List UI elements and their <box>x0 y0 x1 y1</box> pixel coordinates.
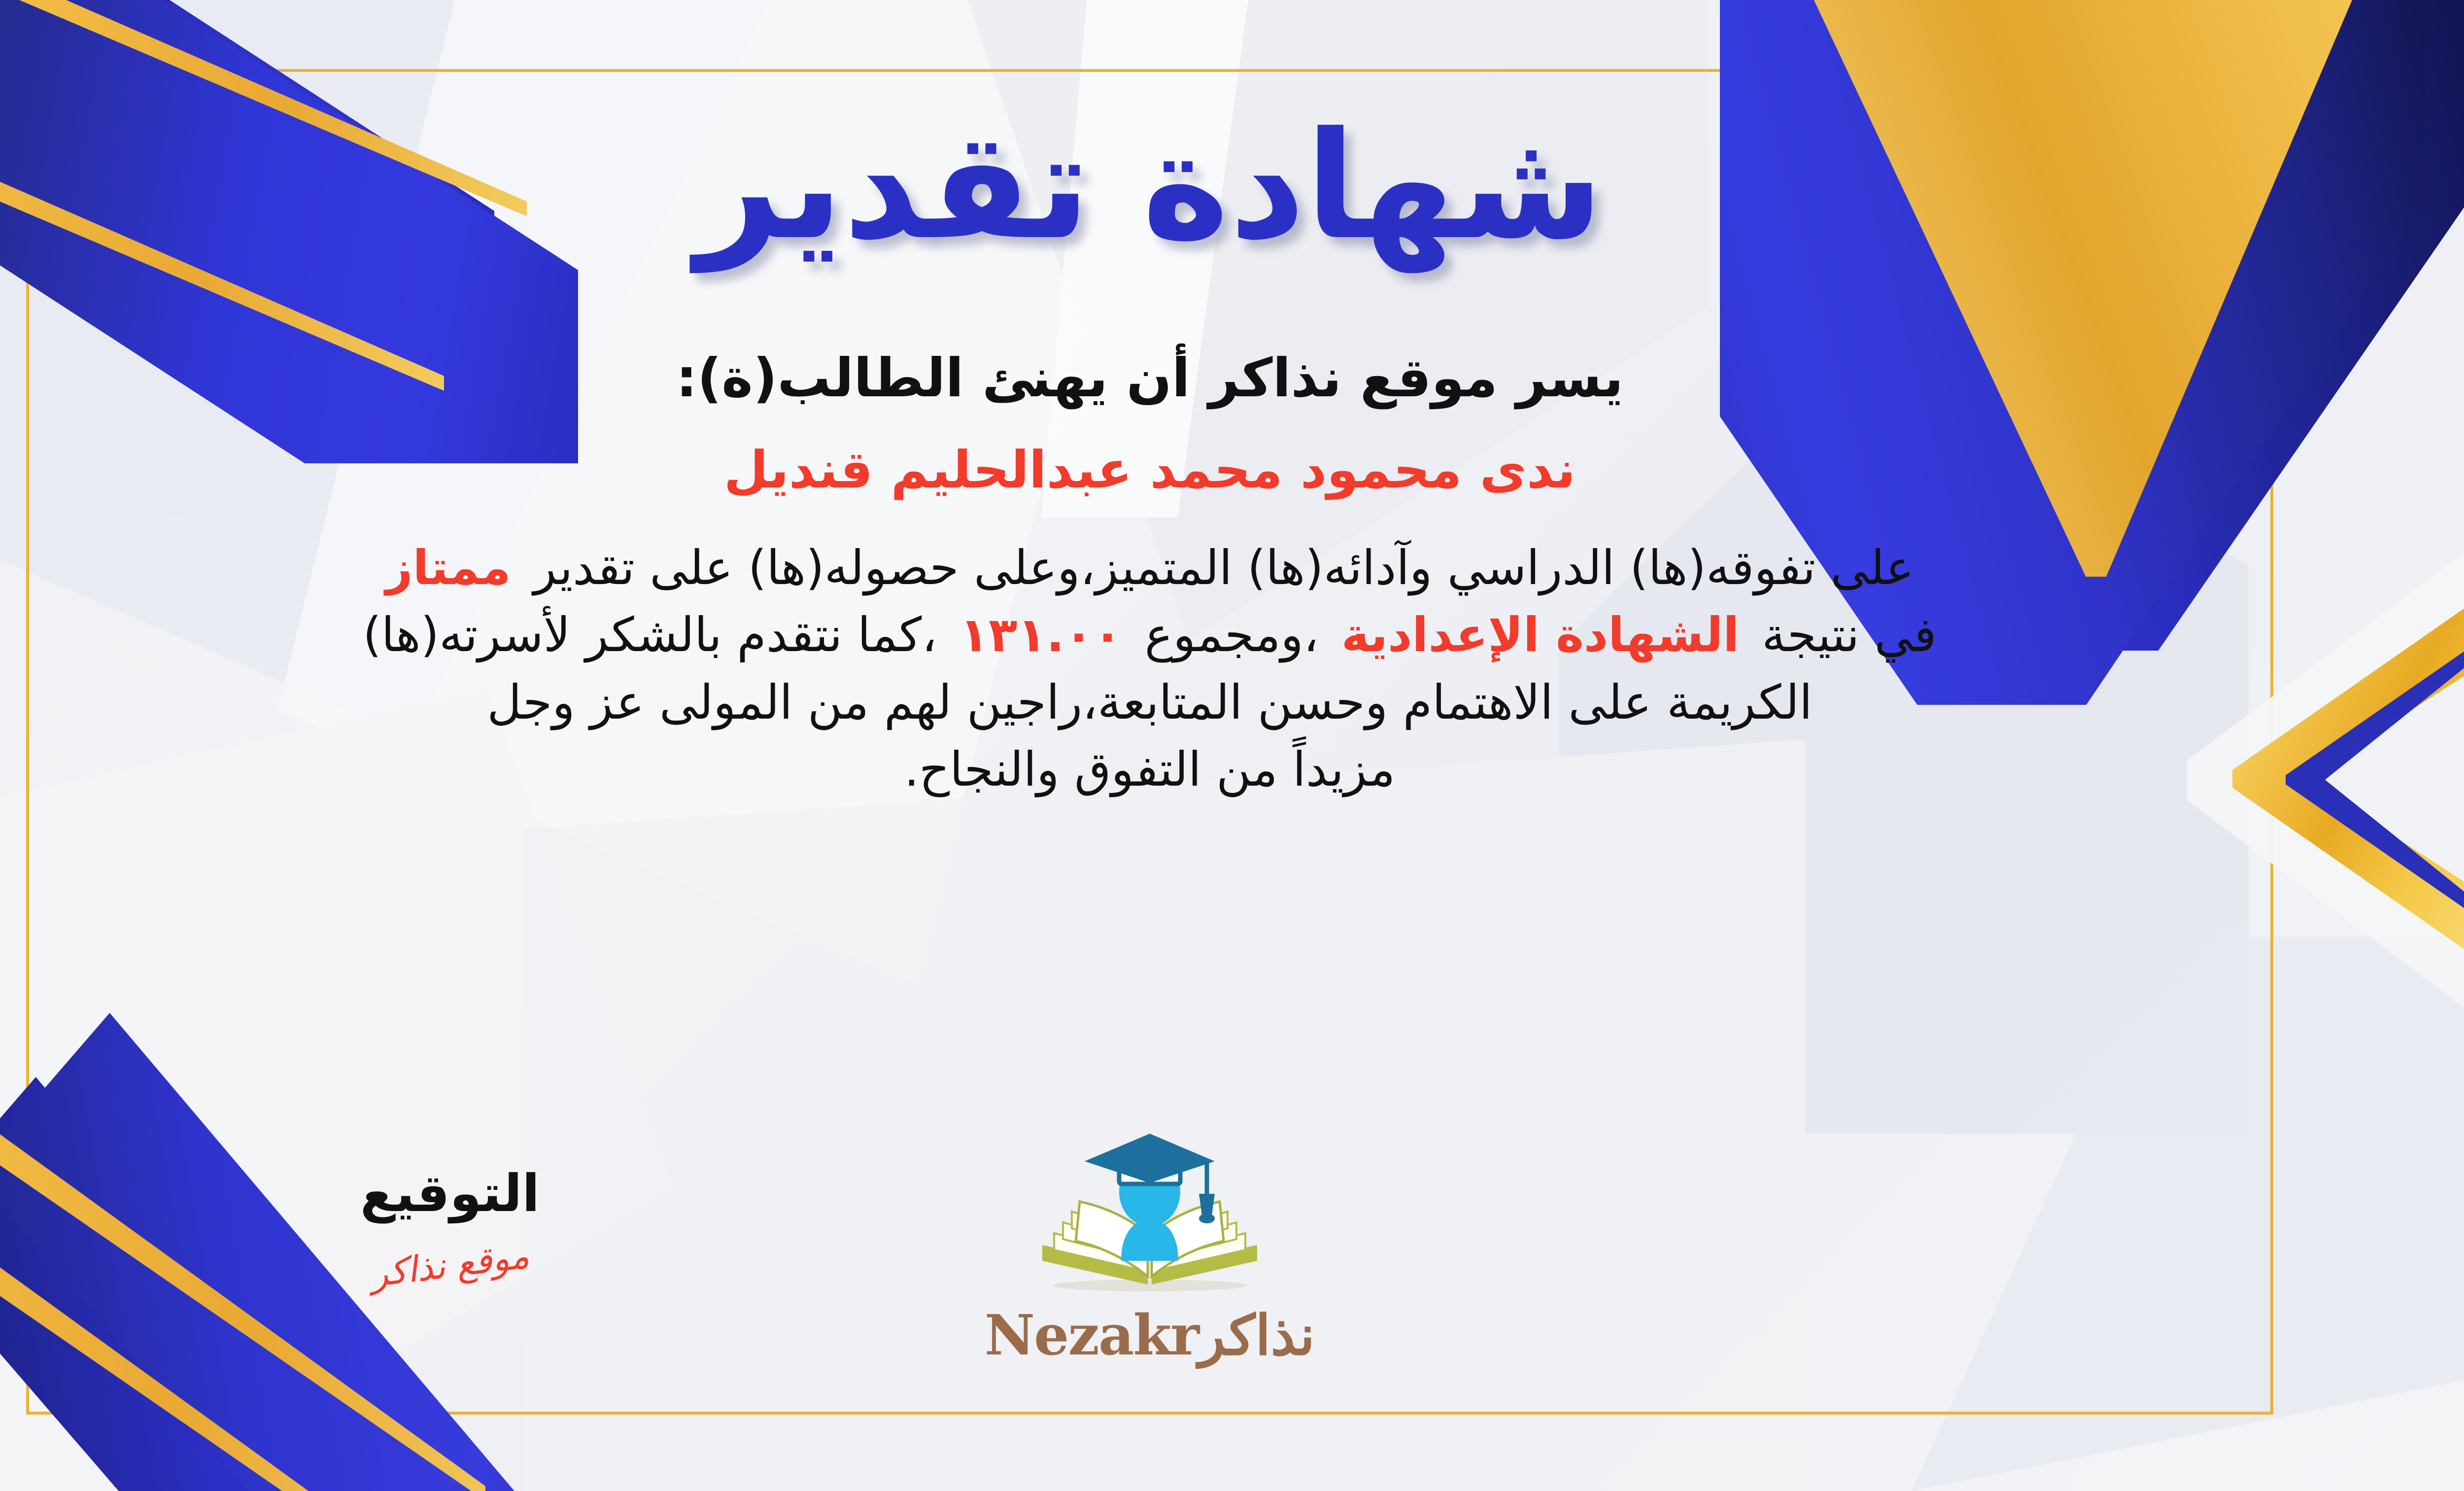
citation-line-1-text: على تفوقه(ها) الدراسي وآدائه(ها) المتميز… <box>534 540 1914 595</box>
grade-value: ممتاز <box>385 540 511 595</box>
brand-latin: Nezakr <box>985 1303 1198 1368</box>
greeting-text: يسر موقع نذاكر أن يهنئ الطالب(ة): <box>41 347 2259 409</box>
citation-line-3: الكريمة على الاهتمام وحسن المتابعة،راجين… <box>487 675 1812 730</box>
citation-line-2-suffix: ،كما نتقدم بالشكر لأسرته(ها) <box>363 607 937 662</box>
certificate-name: الشهادة الإعدادية <box>1341 607 1739 662</box>
brand-arabic: نذاكر <box>1198 1303 1315 1368</box>
signature-mark: موقع نذاكر <box>368 1235 531 1295</box>
certificate-content: شهادة تقدير يسر موقع نذاكر أن يهنئ الطال… <box>41 79 2259 1410</box>
certificate-footer: التوقيع موقع نذاكر <box>41 1084 2259 1400</box>
student-name: ندى محمود محمد عبدالحليم قنديل <box>41 440 2259 500</box>
page-title: شهادة تقدير <box>41 108 2259 264</box>
signature-block: التوقيع موقع نذاكر <box>263 1163 637 1285</box>
brand-wordmark: Nezakrنذاكر <box>948 1303 1352 1368</box>
signature-label: التوقيع <box>263 1163 637 1223</box>
certificate-canvas: شهادة تقدير يسر موقع نذاكر أن يهنئ الطال… <box>0 0 2464 1491</box>
citation-line-2-prefix: في نتيجة <box>1762 607 1937 662</box>
citation-line-4: مزيداً من التفوق والنجاح. <box>904 742 1396 797</box>
total-score-value: ١٣١.٠٠ <box>959 607 1122 662</box>
citation-paragraph: على تفوقه(ها) الدراسي وآدائه(ها) المتميز… <box>41 534 2259 803</box>
brand-logo: Nezakrنذاكر <box>948 1129 1352 1368</box>
citation-line-2-middle: ،ومجموع <box>1145 607 1319 662</box>
graduation-student-on-book-icon <box>1012 1129 1288 1316</box>
